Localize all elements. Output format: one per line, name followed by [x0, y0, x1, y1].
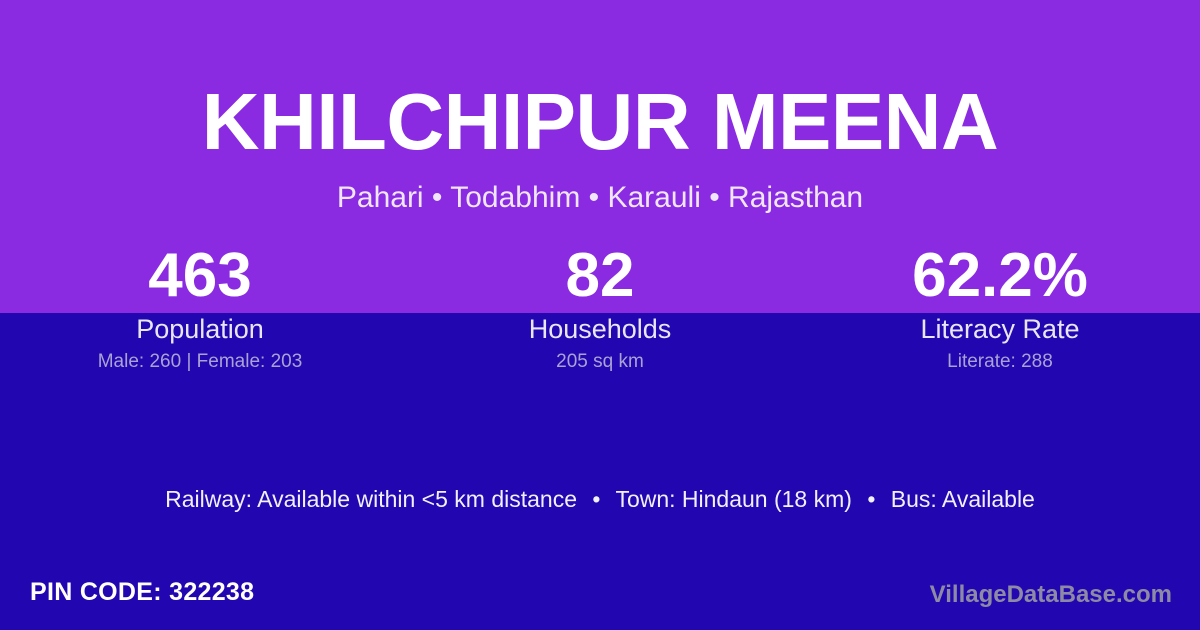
stat-value: 82 — [400, 240, 800, 312]
amenity-separator-icon: • — [583, 483, 609, 515]
amenity-bus: Bus: Available — [891, 486, 1035, 512]
stat-label: Literacy Rate — [800, 312, 1200, 346]
site-brand: VillageDataBase.com — [930, 580, 1172, 610]
stat-subtext: Literate: 288 — [800, 350, 1200, 374]
amenity-railway: Railway: Available within <5 km distance — [165, 486, 577, 512]
breadcrumb: Pahari • Todabhim • Karauli • Rajasthan — [0, 181, 1200, 216]
stat-subtext: Male: 260 | Female: 203 — [0, 350, 400, 374]
stat-households: 82 Households 205 sq km — [400, 240, 800, 374]
village-info-card: KHILCHIPUR MEENA Pahari • Todabhim • Kar… — [0, 0, 1200, 630]
amenity-town: Town: Hindaun (18 km) — [615, 486, 852, 512]
stat-population: 463 Population Male: 260 | Female: 203 — [0, 240, 400, 374]
stat-label: Population — [0, 312, 400, 346]
pin-code: PIN CODE: 322238 — [30, 576, 254, 608]
stat-literacy-rate: 62.2% Literacy Rate Literate: 288 — [800, 240, 1200, 374]
stat-subtext: 205 sq km — [400, 350, 800, 374]
stat-value: 463 — [0, 240, 400, 312]
amenities-line: Railway: Available within <5 km distance… — [0, 483, 1200, 515]
amenity-separator-icon: • — [858, 483, 884, 515]
stats-row: 463 Population Male: 260 | Female: 203 8… — [0, 240, 1200, 374]
stat-value: 62.2% — [800, 240, 1200, 312]
page-title: KHILCHIPUR MEENA — [0, 82, 1200, 162]
stat-label: Households — [400, 312, 800, 346]
